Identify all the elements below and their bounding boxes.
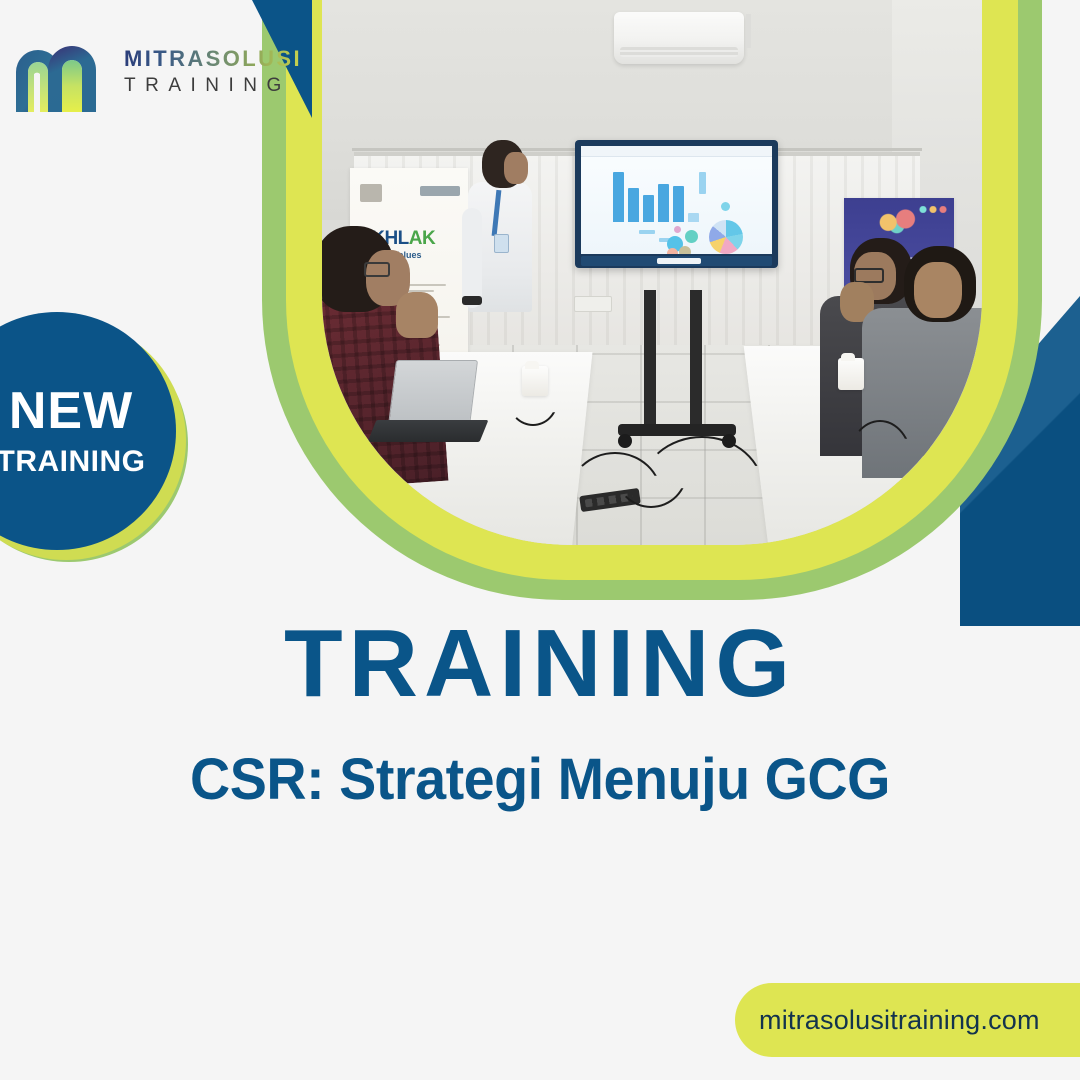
- air-conditioner: [614, 12, 744, 64]
- table-leg-right: [879, 522, 886, 545]
- wall-outlet: [574, 296, 612, 312]
- brand-name: MITRASOLUSI: [124, 48, 302, 70]
- tv-stand-post-right: [690, 290, 702, 430]
- tv-caster-left: [618, 434, 632, 448]
- tv-stand-post-left: [644, 290, 656, 430]
- brand-logo-text: MITRASOLUSI TRAINING: [124, 38, 302, 99]
- photo-frame: AKHLAK Core Values Amanah Kompeten Harmo…: [262, 0, 1042, 600]
- tv-stand-base: [618, 424, 736, 436]
- participant-left-glasses: [364, 262, 390, 277]
- display-control-bar: [581, 256, 772, 266]
- presenter-face: [504, 152, 528, 184]
- photo-scene: AKHLAK Core Values Amanah Kompeten Harmo…: [322, 0, 982, 545]
- poster-canvas: AKHLAK Core Values Amanah Kompeten Harmo…: [0, 0, 1080, 1080]
- presenter-arm: [462, 208, 482, 308]
- tissue-box-left: [522, 366, 548, 396]
- badge-line-2: TRAINING: [0, 447, 146, 477]
- tissue-box-right: [838, 358, 864, 390]
- table-leg-left: [486, 540, 493, 545]
- participant-left-hands: [396, 292, 438, 338]
- screen-toolbar: [581, 146, 772, 157]
- presenter-id-badge: [494, 234, 509, 253]
- new-training-badge[interactable]: NEW TRAINING: [0, 312, 188, 562]
- brand-tagline: TRAINING: [124, 73, 302, 99]
- website-url: mitrasolusitraining.com: [759, 1005, 1040, 1036]
- brigada-logo-icon: [420, 186, 460, 196]
- table-leg-right-2: [971, 498, 978, 545]
- display-screen: [581, 146, 772, 254]
- presentation-display: [575, 140, 778, 268]
- page-subtitle: CSR: Strategi Menuju GCG: [22, 748, 1059, 812]
- dashboard-bar-chart: [613, 168, 697, 222]
- page-title: TRAINING: [0, 616, 1080, 712]
- bumn-logo-icon: [360, 184, 382, 202]
- ac-pipe: [746, 14, 751, 48]
- banner-dots-icon: [918, 206, 948, 213]
- mitrasolusi-m-logo-icon: [14, 38, 114, 114]
- website-pill[interactable]: mitrasolusitraining.com: [735, 983, 1080, 1057]
- presenter-watch: [462, 296, 482, 305]
- dashboard-pie-chart: [709, 220, 743, 254]
- brand-logo[interactable]: MITRASOLUSI TRAINING: [14, 38, 302, 114]
- badge-line-1: NEW: [9, 385, 133, 437]
- training-photo: AKHLAK Core Values Amanah Kompeten Harmo…: [322, 0, 982, 545]
- participant-right1-glasses: [854, 268, 884, 283]
- participant-right2-face: [914, 262, 962, 318]
